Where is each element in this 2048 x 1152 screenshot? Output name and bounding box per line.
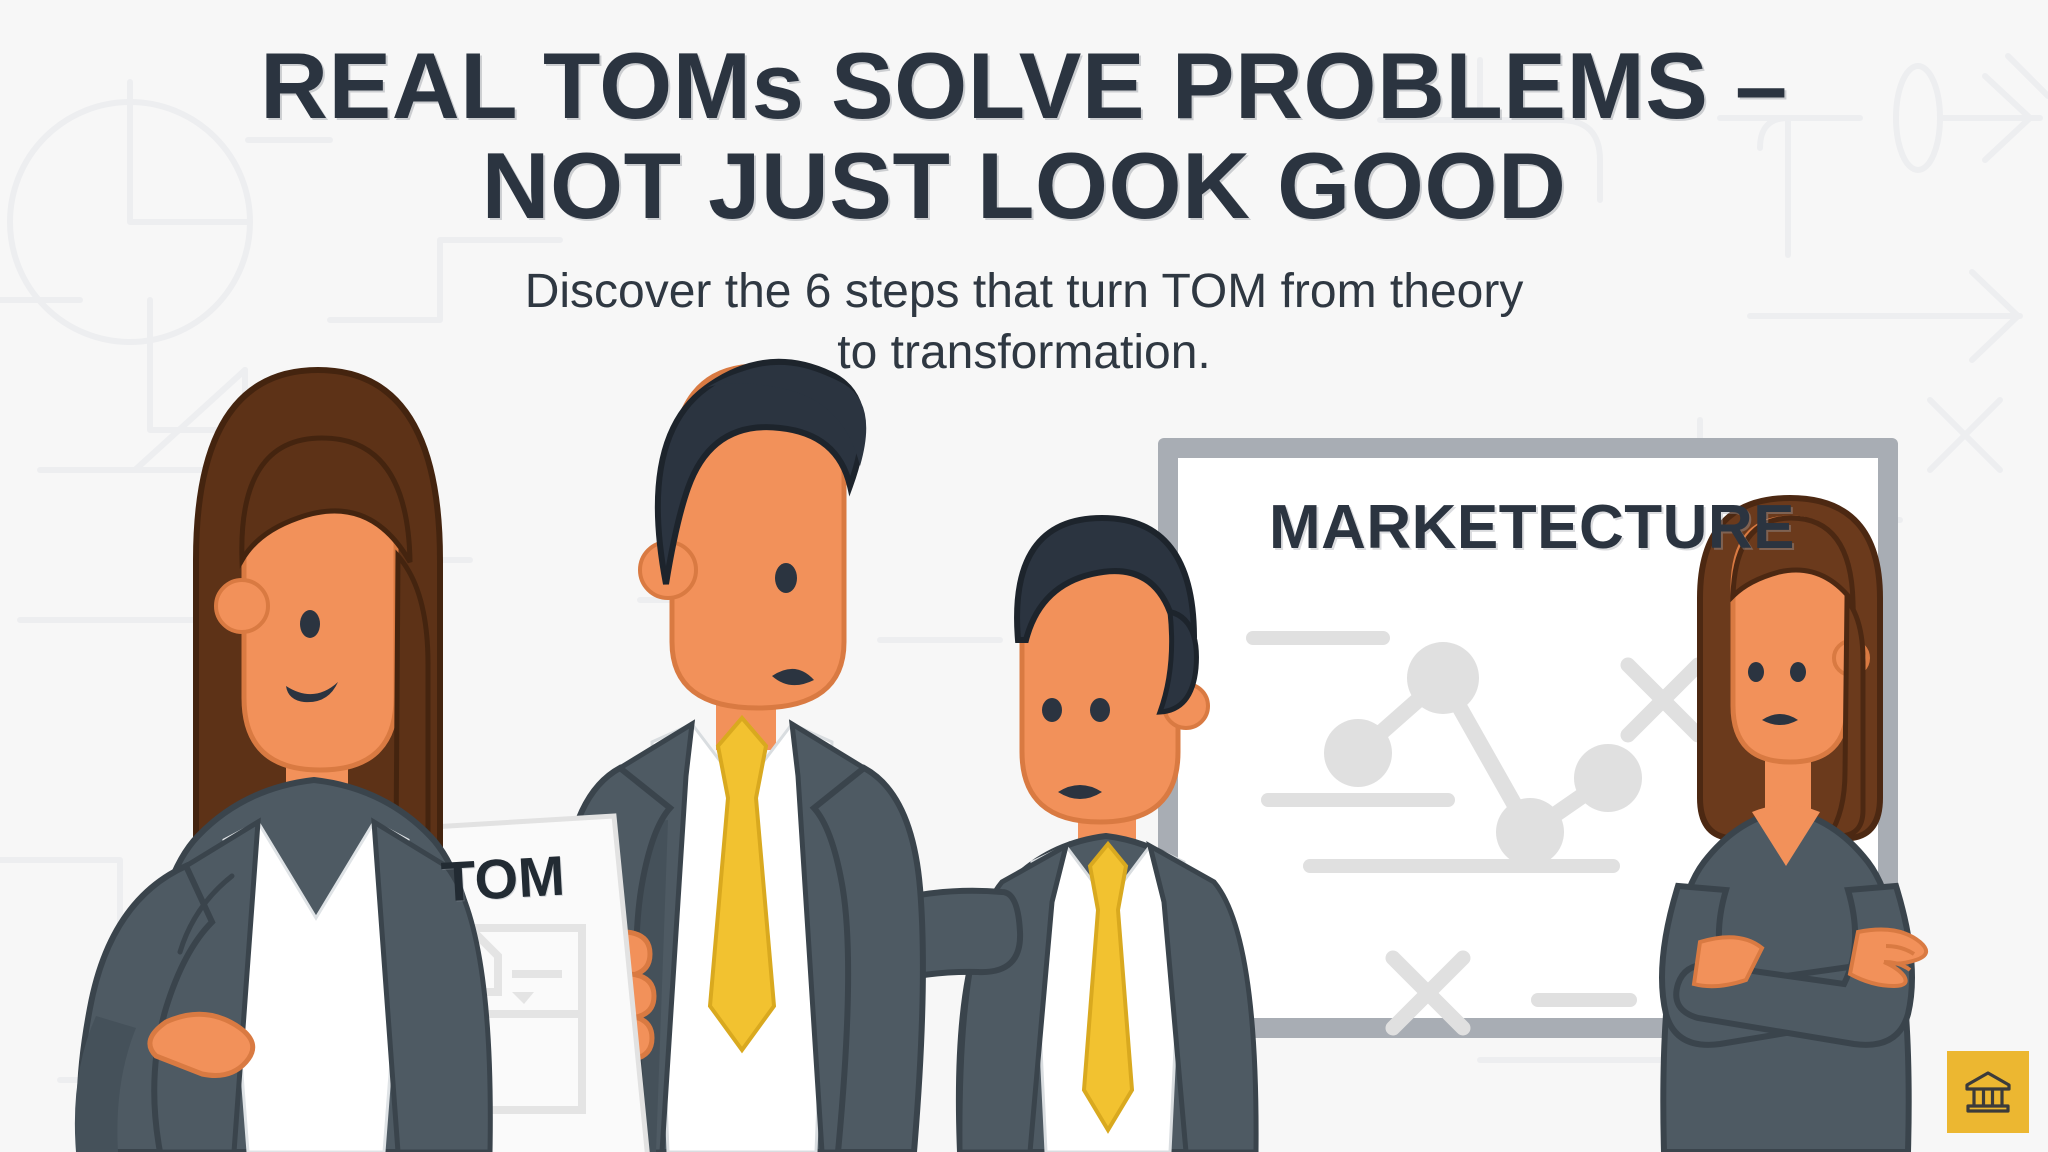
bank-institution-icon bbox=[1963, 1069, 2013, 1115]
logo-badge[interactable] bbox=[1947, 1051, 2029, 1133]
poster-canvas: REAL TOMs SOLVE PROBLEMS – NOT JUST LOOK… bbox=[0, 0, 2048, 1152]
character-woman-left bbox=[75, 370, 490, 1152]
illustration-scene bbox=[0, 0, 2048, 1152]
